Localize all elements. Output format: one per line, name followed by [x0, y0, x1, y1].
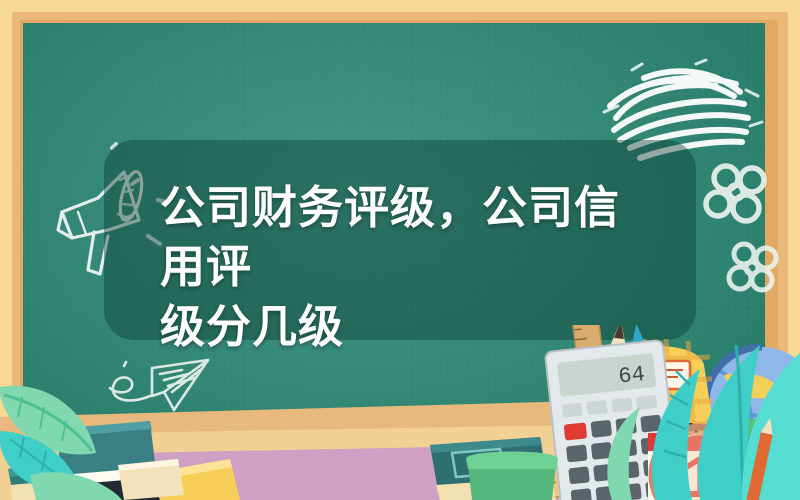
- page-title: 公司财务评级，公司信用评 级分几级: [160, 178, 660, 356]
- plant-pot: [466, 452, 558, 500]
- cover-image: 公司财务评级，公司信用评 级分几级: [0, 0, 800, 500]
- title-line-2: 级分几级: [160, 301, 344, 352]
- calculator-display: 64: [617, 362, 646, 390]
- open-book: [118, 459, 240, 500]
- title-line-1: 公司财务评级，公司信用评: [160, 182, 620, 292]
